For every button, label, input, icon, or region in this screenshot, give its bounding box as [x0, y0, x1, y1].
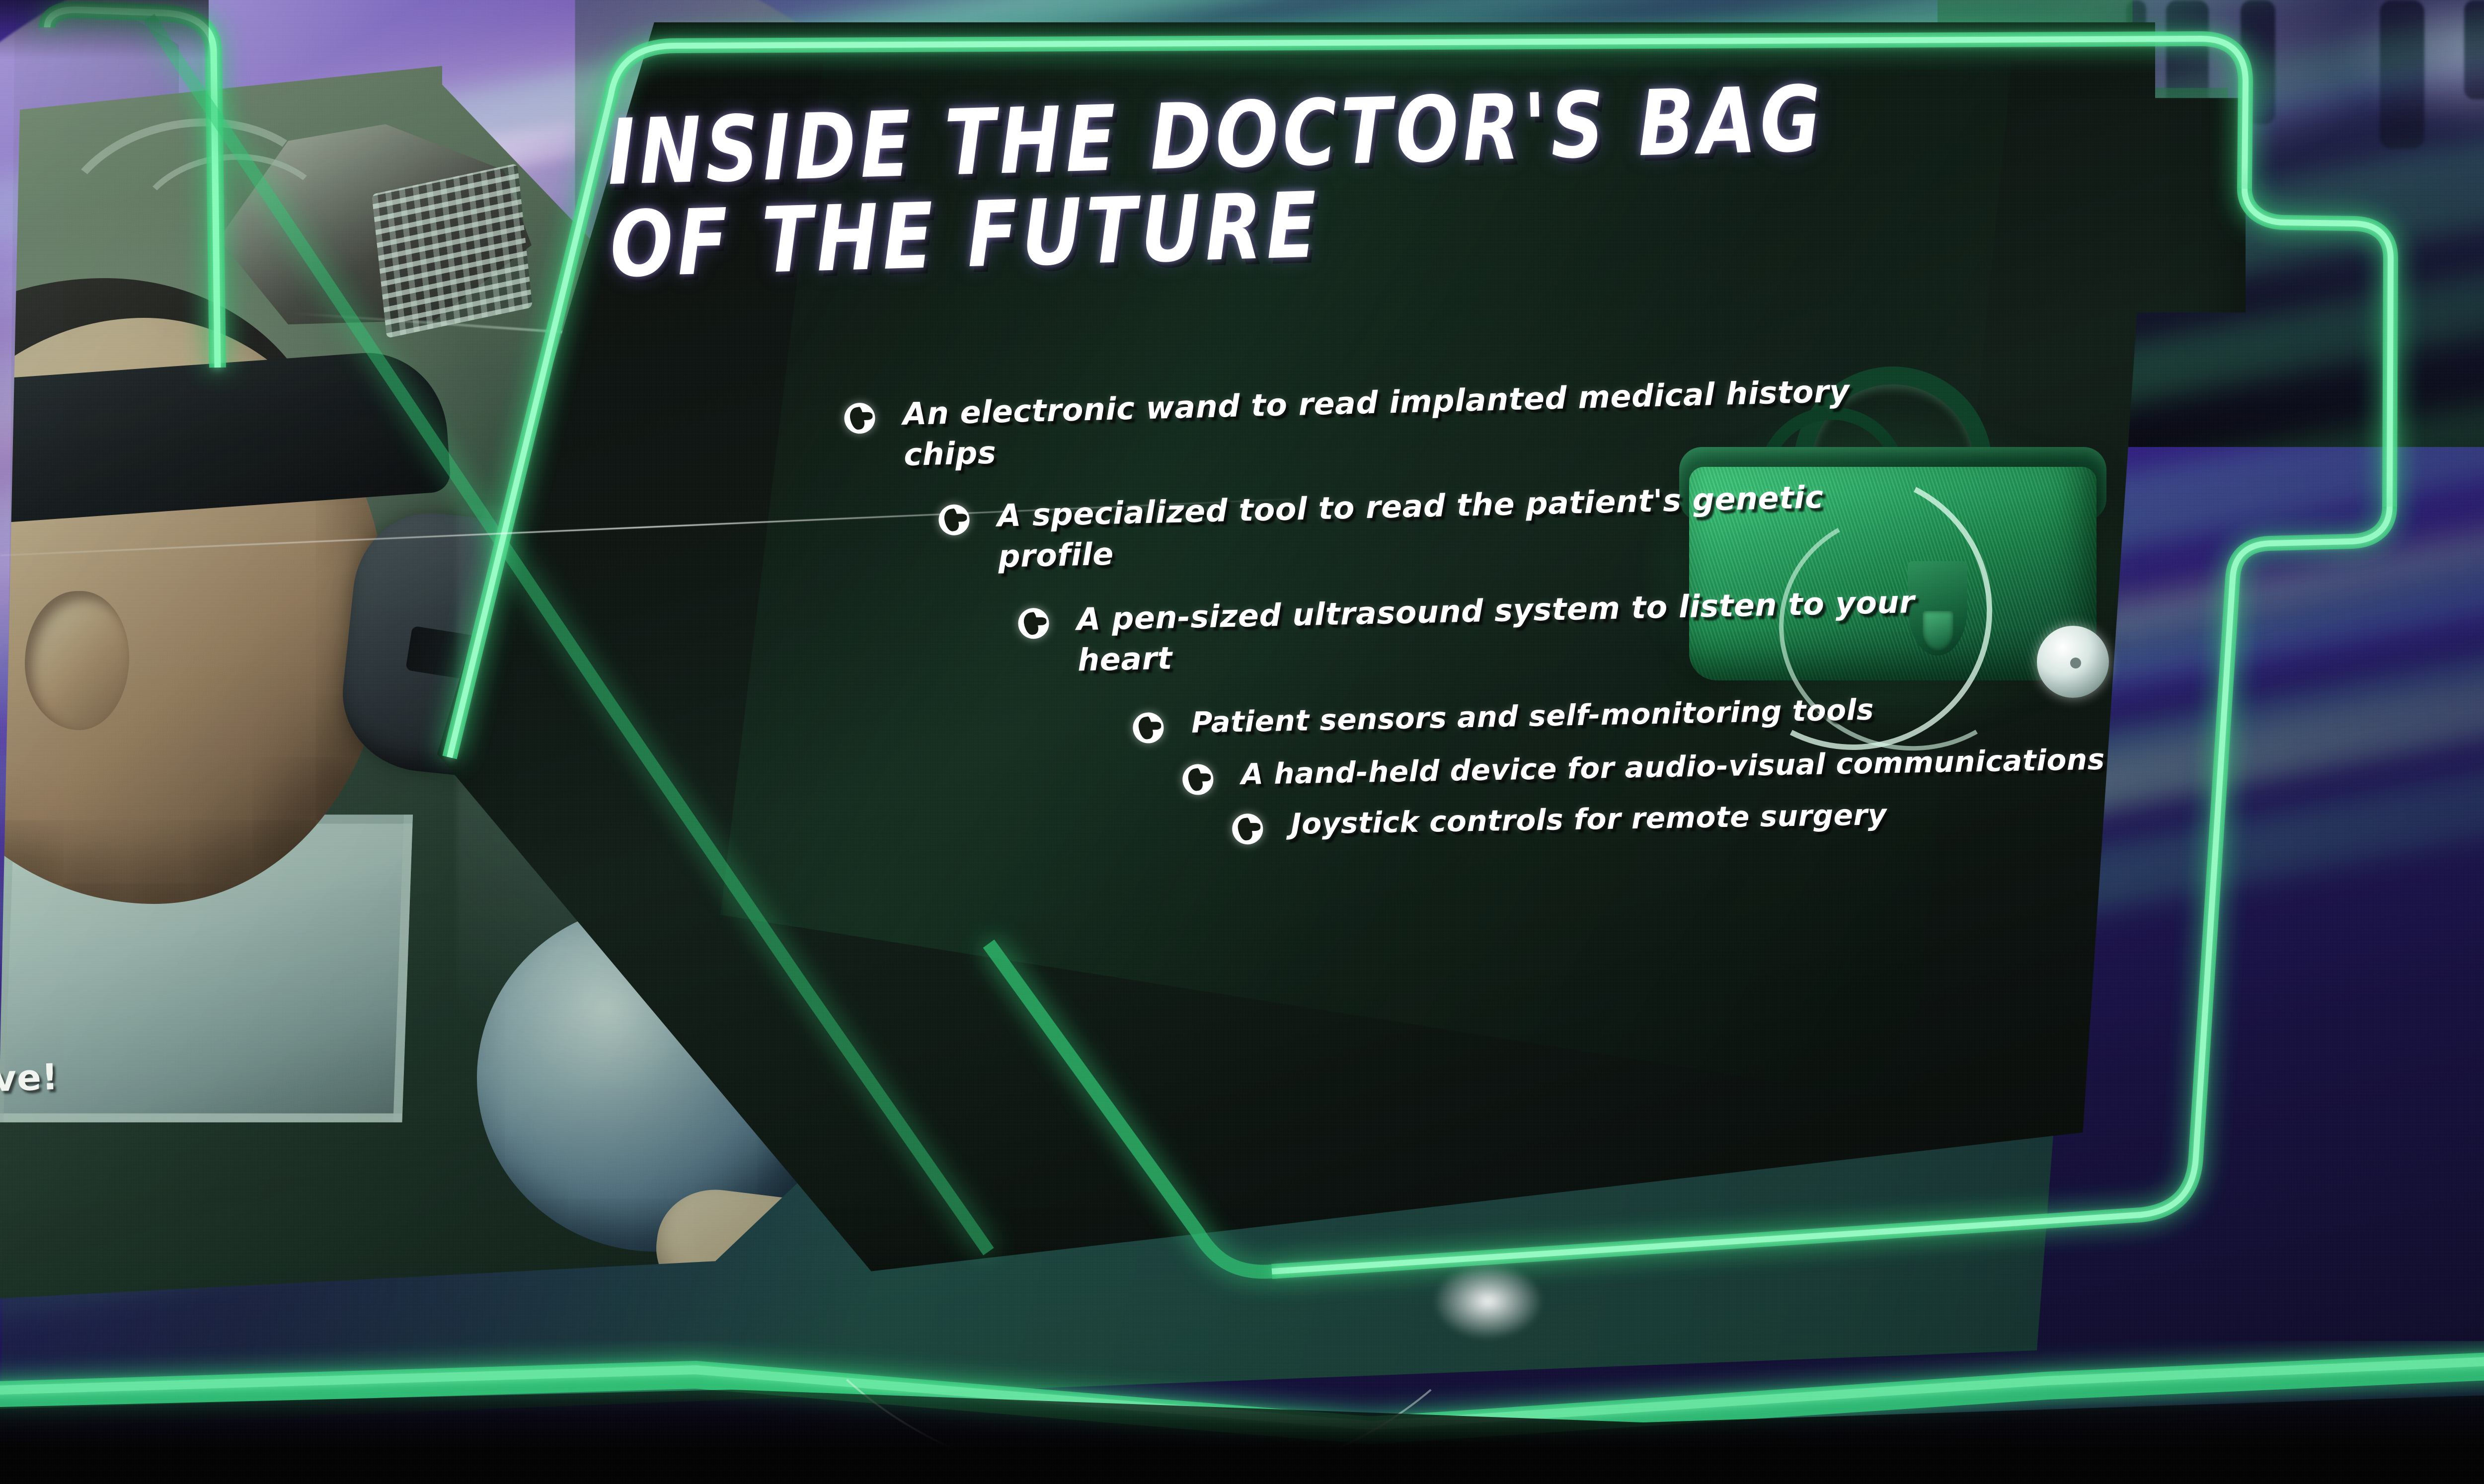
list-item: A specialized tool to read the patient's… — [938, 474, 1923, 578]
list-item: An electronic wand to read implanted med… — [844, 370, 1898, 476]
list-item-label: A specialized tool to read the patient's… — [997, 474, 1923, 577]
list-item-label: Joystick controls for remote surgery — [1290, 796, 1887, 843]
doctor-figure-bullet-icon — [844, 402, 875, 434]
list-item-label: A pen-sized ultrasound system to listen … — [1076, 581, 1963, 680]
list-item-label: A hand-held device for audio-visual comm… — [1241, 741, 2105, 794]
list-item-label: An electronic wand to read implanted med… — [902, 370, 1898, 475]
doctor-figure-bullet-icon — [1133, 712, 1164, 743]
doctor-figure-bullet-icon — [938, 504, 970, 535]
list-item: A pen-sized ultrasound system to listen … — [1017, 581, 1963, 681]
list-item: A hand-held device for audio-visual comm… — [1182, 737, 2325, 795]
cutoff-text-fragment: ve! — [0, 1056, 59, 1100]
feature-list: An electronic wand to read implanted med… — [845, 382, 2385, 837]
doctor-figure-bullet-icon — [1182, 764, 1214, 795]
top-left-shadow — [0, 0, 209, 60]
list-item-label: Patient sensors and self-monitoring tool… — [1191, 690, 1874, 742]
doctor-figure-bullet-icon — [1232, 814, 1263, 845]
doctor-figure-bullet-icon — [1018, 608, 1049, 639]
list-item: Patient sensors and self-monitoring tool… — [1132, 685, 2176, 743]
list-item: Joystick controls for remote surgery — [1232, 790, 2226, 844]
poster-root: INSIDE THE DOCTOR'S BAG OF THE FUTURE An… — [0, 0, 2484, 1484]
arc-light-flare — [1431, 1261, 1545, 1341]
